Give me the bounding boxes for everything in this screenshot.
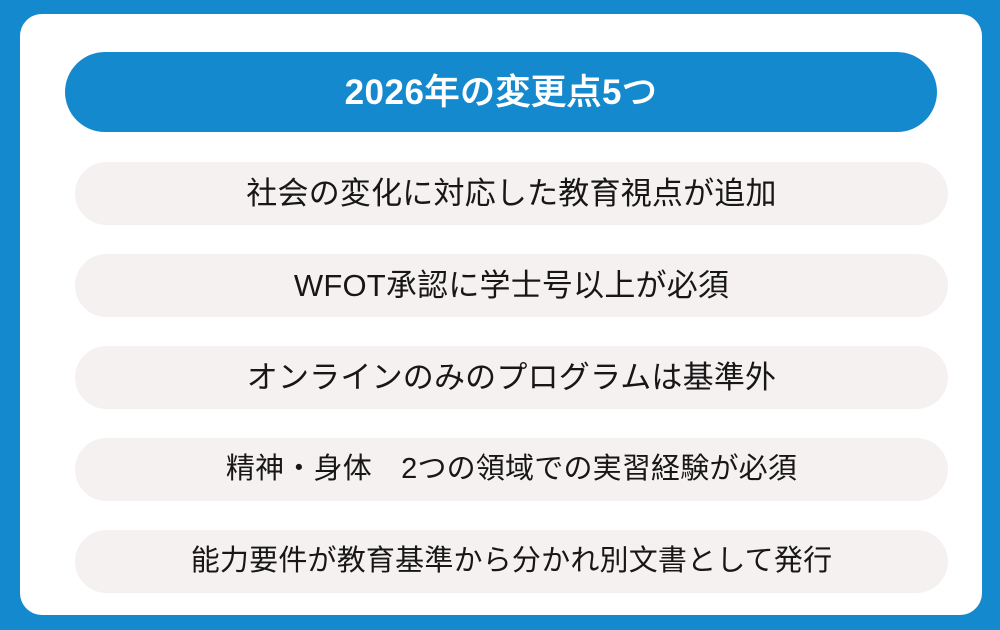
list-item: 社会の変化に対応した教育視点が追加	[75, 162, 948, 225]
changes-list: 社会の変化に対応した教育視点が追加 WFOT承認に学士号以上が必須 オンラインの…	[75, 162, 948, 593]
list-item-label: オンラインのみのプログラムは基準外	[247, 362, 776, 393]
list-item-label: 精神・身体 2つの領域での実習経験が必須	[226, 455, 797, 484]
list-item-label: WFOT承認に学士号以上が必須	[294, 270, 729, 301]
list-item-label: 能力要件が教育基準から分かれ別文書として発行	[191, 547, 833, 576]
list-item: オンラインのみのプログラムは基準外	[75, 346, 948, 409]
list-item: 能力要件が教育基準から分かれ別文書として発行	[75, 530, 948, 593]
list-item-label: 社会の変化に対応した教育視点が追加	[246, 178, 776, 209]
content-card: 2026年の変更点5つ 社会の変化に対応した教育視点が追加 WFOT承認に学士号…	[20, 14, 982, 615]
title-banner: 2026年の変更点5つ	[65, 52, 937, 132]
page-title: 2026年の変更点5つ	[345, 75, 658, 110]
list-item: 精神・身体 2つの領域での実習経験が必須	[75, 438, 948, 501]
list-item: WFOT承認に学士号以上が必須	[75, 254, 948, 317]
infographic-root: 2026年の変更点5つ 社会の変化に対応した教育視点が追加 WFOT承認に学士号…	[0, 0, 1000, 630]
